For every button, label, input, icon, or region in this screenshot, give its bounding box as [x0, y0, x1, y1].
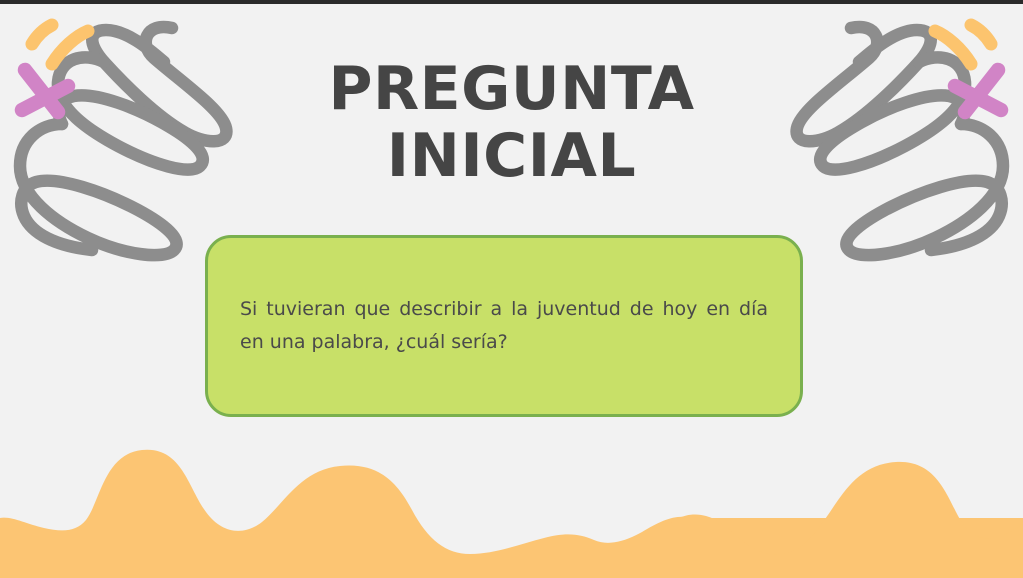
title-line-1: PREGUNTA [0, 56, 1023, 123]
slide-canvas: PREGUNTA INICIAL Si tuvieran que describ… [0, 0, 1023, 578]
orange-wave-decoration [0, 428, 1023, 578]
page-title: PREGUNTA INICIAL [0, 56, 1023, 190]
title-line-2: INICIAL [0, 123, 1023, 190]
top-edge-bar [0, 0, 1023, 4]
question-text: Si tuvieran que describir a la juventud … [208, 293, 800, 360]
question-card: Si tuvieran que describir a la juventud … [205, 235, 803, 417]
